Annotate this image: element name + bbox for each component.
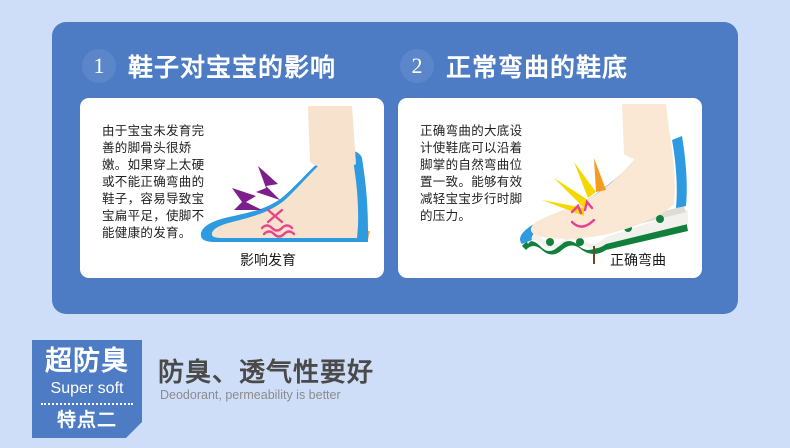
- step-number-badge-2: 2: [400, 49, 434, 83]
- step-number-badge-1: 1: [82, 49, 116, 83]
- feature-title: 防臭、透气性要好: [158, 352, 374, 389]
- content-card-1: 由于宝宝未发育完善的脚骨头很娇嫩。如果穿上太硬或不能正确弯曲的鞋子，容易导致宝宝…: [80, 98, 384, 278]
- feature-subtitle: Deodorant, permeability is better: [160, 388, 341, 402]
- card-heading-1: 1 鞋子对宝宝的影响: [82, 48, 336, 84]
- badge-divider: [41, 403, 133, 405]
- badge-title-cn: 超防臭: [32, 346, 142, 377]
- content-card-2: 正确弯曲的大底设计使鞋底可以沿着脚掌的自然弯曲位置一致。能够有效减轻宝宝步行时脚…: [398, 98, 702, 278]
- card-heading-2: 2 正常弯曲的鞋底: [400, 48, 628, 84]
- feature-badge: 超防臭 Super soft 特点二: [32, 340, 142, 438]
- badge-title-en: Super soft: [32, 379, 142, 398]
- badge-folded-corner: [126, 422, 142, 438]
- flexible-shoe-foot-illustration: [510, 100, 700, 272]
- feature-panel: 1 鞋子对宝宝的影响 2 正常弯曲的鞋底 由于宝宝未发育完善的脚骨头很娇嫩。如果…: [52, 22, 738, 314]
- stiff-shoe-foot-illustration: [192, 100, 382, 272]
- card-title-2: 正常弯曲的鞋底: [446, 48, 628, 84]
- card-title-1: 鞋子对宝宝的影响: [128, 48, 336, 84]
